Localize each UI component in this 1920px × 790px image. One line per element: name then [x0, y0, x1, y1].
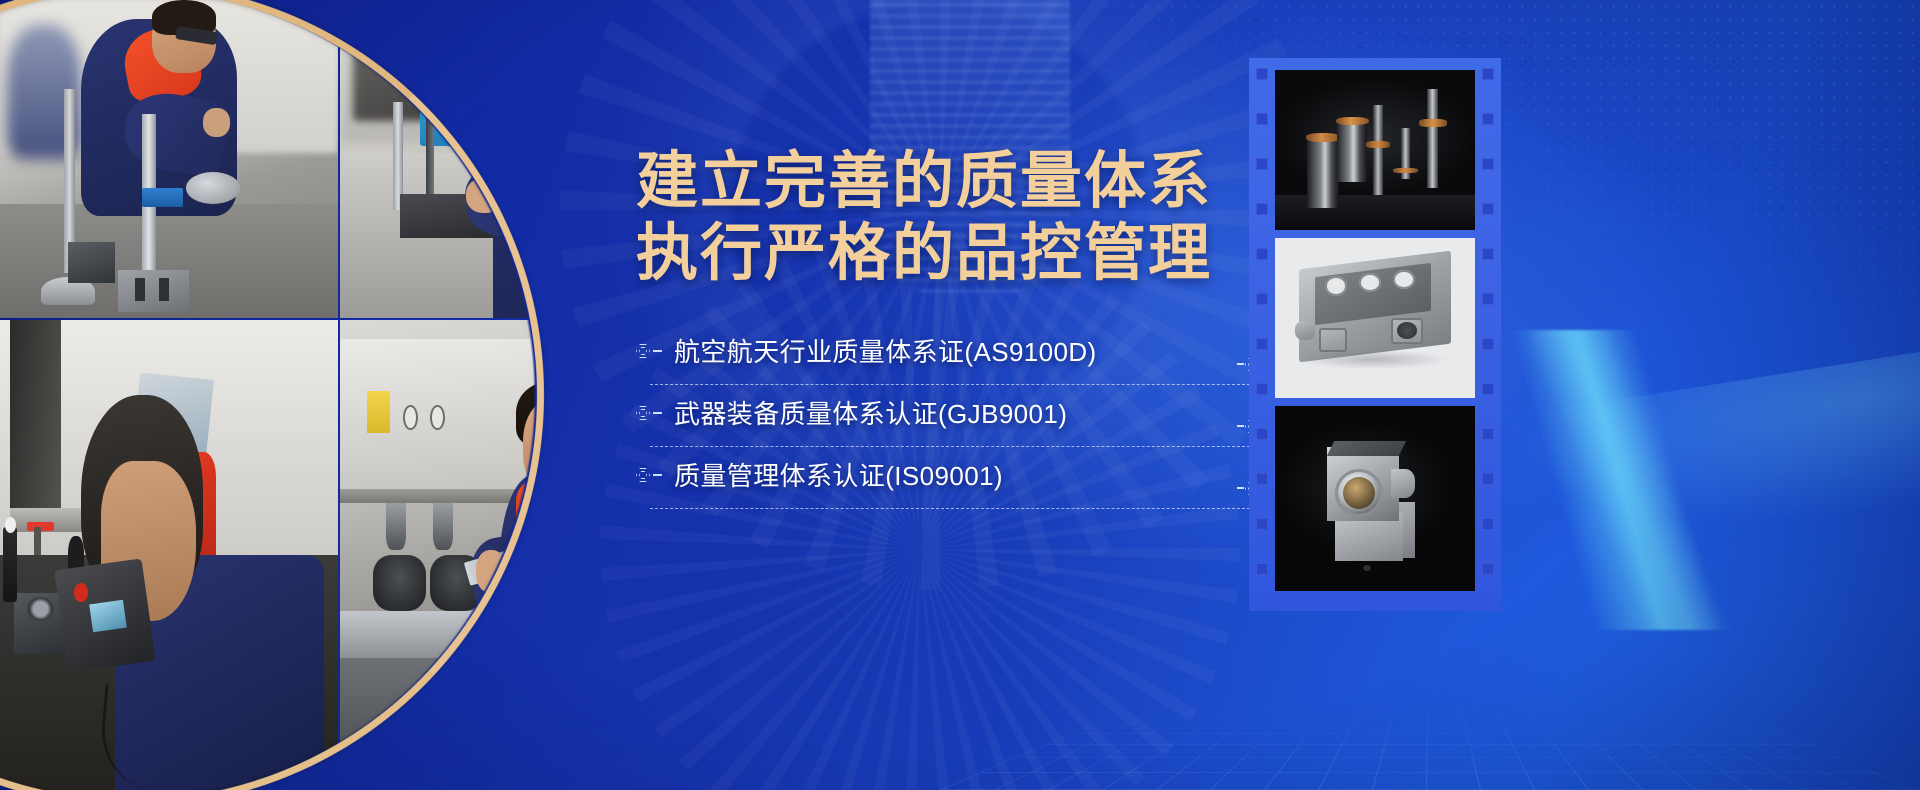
- product-photo-precision-pins: [1275, 70, 1475, 230]
- list-item: 航空航天行业质量体系证(AS9100D): [636, 329, 1216, 391]
- headline-line-2: 执行严格的品控管理: [636, 222, 1216, 286]
- page-title: 建立完善的质量体系 执行严格的品控管理: [636, 150, 1216, 287]
- film-perforation-left: [1249, 58, 1275, 611]
- film-perforation-right: [1475, 58, 1501, 611]
- certification-label: 航空航天行业质量体系证(AS9100D): [674, 332, 1097, 369]
- headline-line-1: 建立完善的质量体系: [636, 147, 1212, 216]
- certification-label: 武器装备质量体系认证(GJB9001): [674, 394, 1067, 431]
- dashed-divider: [650, 508, 1250, 509]
- product-filmstrip: [1249, 58, 1501, 611]
- product-photo-bearing-block: [1275, 406, 1475, 591]
- list-item: 质量管理体系认证(IS09001): [636, 453, 1216, 515]
- certification-list: 航空航天行业质量体系证(AS9100D) 武器装备质量体系认证(GJB9001)…: [636, 329, 1216, 515]
- hexagon-dash-icon: [636, 405, 662, 421]
- headline-block: 建立完善的质量体系 执行严格的品控管理 航空航天行业质量体系证(AS9100D)…: [636, 150, 1216, 515]
- list-item: 武器装备质量体系认证(GJB9001): [636, 391, 1216, 453]
- hexagon-dash-icon: [636, 343, 662, 359]
- hexagon-dash-icon: [636, 467, 662, 483]
- certification-label: 质量管理体系认证(IS09001): [674, 456, 1003, 493]
- quality-system-banner: 建立完善的质量体系 执行严格的品控管理 航空航天行业质量体系证(AS9100D)…: [0, 0, 1920, 790]
- dashed-divider: [650, 446, 1250, 447]
- dashed-divider: [650, 384, 1250, 385]
- product-photo-machined-housing: [1275, 238, 1475, 398]
